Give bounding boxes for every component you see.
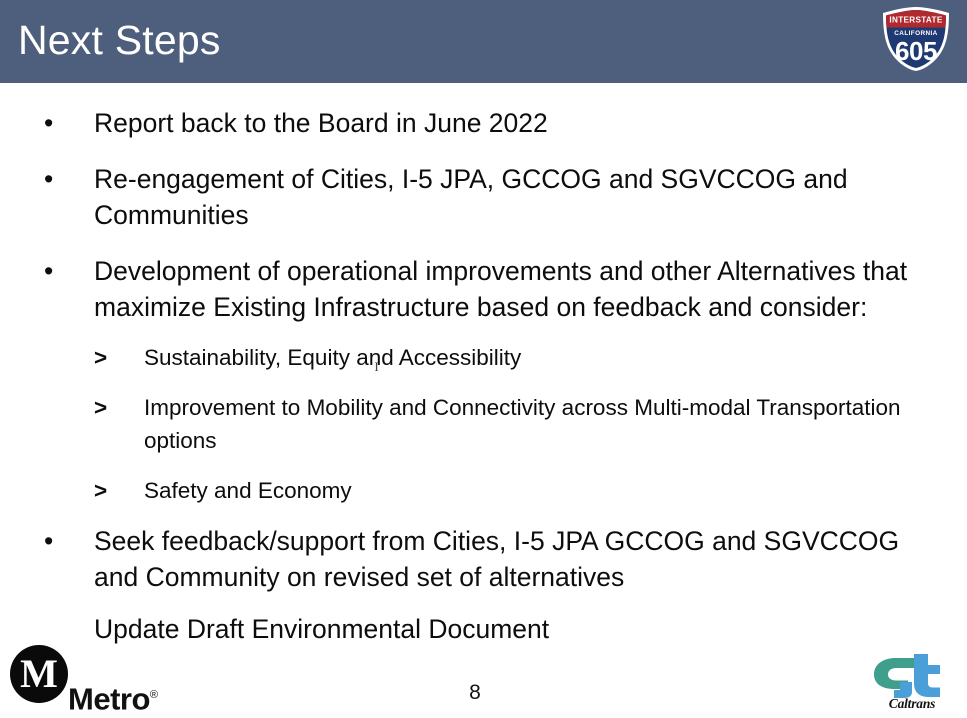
sub-bullet-text: Sustainability, Equity and Accessibility <box>144 341 904 374</box>
bullet-text: Re-engagement of Cities, I-5 JPA, GCCOG … <box>94 161 924 233</box>
bullet-item: • Seek feedback/support from Cities, I-5… <box>0 523 967 595</box>
metro-m-icon: M <box>10 645 68 703</box>
sub-bullet-item: > Improvement to Mobility and Connectivi… <box>0 391 967 457</box>
bullet-marker: • <box>44 161 53 197</box>
bullet-marker: • <box>44 253 53 289</box>
slide: Next Steps INTERSTATE CALIFORNIA 605 • R… <box>0 0 967 718</box>
svg-text:INTERSTATE: INTERSTATE <box>889 16 942 25</box>
interstate-605-shield-icon: INTERSTATE CALIFORNIA 605 <box>879 5 953 73</box>
bullet-list: • Report back to the Board in June 2022 … <box>0 105 967 647</box>
bullet-marker: • <box>44 523 53 559</box>
bullet-item: • Re-engagement of Cities, I-5 JPA, GCCO… <box>0 161 967 233</box>
metro-trademark: ® <box>150 689 158 701</box>
bullet-text: Seek feedback/support from Cities, I-5 J… <box>94 523 924 595</box>
bullet-item: • Development of operational improvement… <box>0 253 967 325</box>
svg-text:Caltrans: Caltrans <box>889 696 935 710</box>
metro-logo: M Metro® <box>8 645 168 713</box>
sub-bullet-text: Safety and Economy <box>144 474 904 507</box>
bullet-text: Report back to the Board in June 2022 <box>94 105 924 141</box>
bullet-text: Update Draft Environmental Document <box>94 611 924 647</box>
metro-wordmark-text: Metro <box>68 681 150 716</box>
svg-text:605: 605 <box>895 36 937 66</box>
sub-bullet-item: > Sustainability, Equity and Accessibili… <box>0 341 967 374</box>
page-number: 8 <box>455 680 495 706</box>
sub-bullet-text: Improvement to Mobility and Connectivity… <box>144 391 904 457</box>
bullet-text: Development of operational improvements … <box>94 253 924 325</box>
bullet-marker: • <box>44 105 53 141</box>
sub-bullet-item: > Safety and Economy <box>0 474 967 507</box>
sub-bullet-marker: > <box>94 474 107 507</box>
caltrans-logo: Caltrans <box>866 652 958 710</box>
slide-body: • Report back to the Board in June 2022 … <box>0 83 967 718</box>
bullet-item: Update Draft Environmental Document <box>0 611 967 647</box>
page-title: Next Steps <box>18 12 221 68</box>
sub-bullet-marker: > <box>94 391 107 424</box>
bullet-item: • Report back to the Board in June 2022 <box>0 105 967 141</box>
sub-bullet-marker: > <box>94 341 107 374</box>
metro-wordmark: Metro® <box>68 677 158 717</box>
